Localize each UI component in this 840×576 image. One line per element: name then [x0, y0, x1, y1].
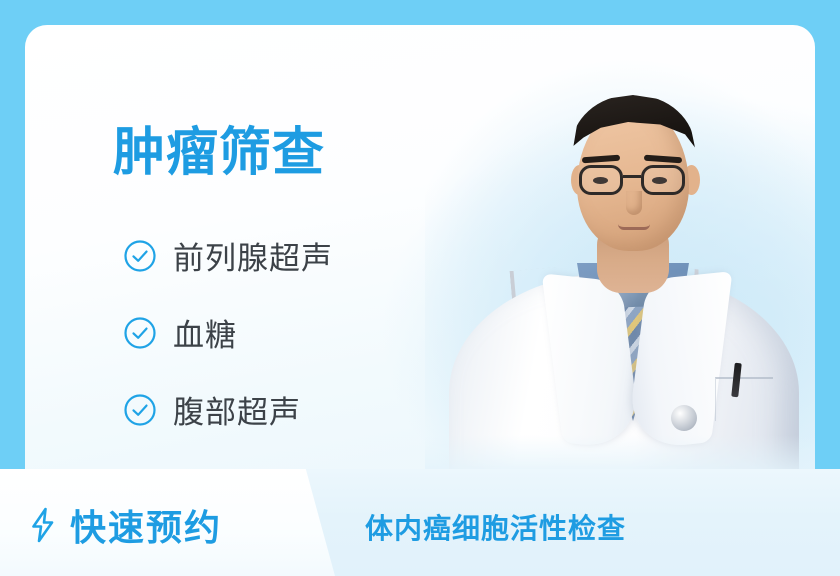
list-item[interactable]: 前列腺超声 [123, 217, 333, 294]
check-circle-icon [123, 239, 157, 273]
quick-booking-label: 快速预约 [70, 499, 222, 551]
nose [626, 191, 642, 215]
mouth [618, 224, 650, 230]
check-circle-icon [123, 316, 157, 350]
eyeglasses-lens-right [641, 165, 685, 195]
check-circle-icon [123, 393, 157, 427]
list-item[interactable]: 血糖 [123, 294, 333, 371]
list-item-label: 前列腺超声 [173, 233, 333, 278]
list-item-label: 血糖 [173, 310, 237, 355]
eyeglasses-bridge [623, 175, 641, 178]
stethoscope-bell [671, 405, 697, 431]
feature-list: 前列腺超声 血糖 腹部超声 [123, 217, 333, 448]
quick-booking-content[interactable]: 快速预约 [28, 499, 222, 551]
bar-subtitle: 体内癌细胞活性检查 [365, 507, 626, 547]
doctor-portrait-image [425, 25, 815, 495]
list-item-label: 腹部超声 [173, 387, 301, 432]
promo-card-root: 肿瘤筛查 前列腺超声 血糖 [0, 0, 840, 576]
page-title: 肿瘤筛查 [113, 124, 325, 184]
lightning-bolt-icon [28, 507, 58, 543]
list-item[interactable]: 腹部超声 [123, 371, 333, 448]
eyeglasses-lens-left [579, 165, 623, 195]
coat-pocket [715, 377, 773, 421]
